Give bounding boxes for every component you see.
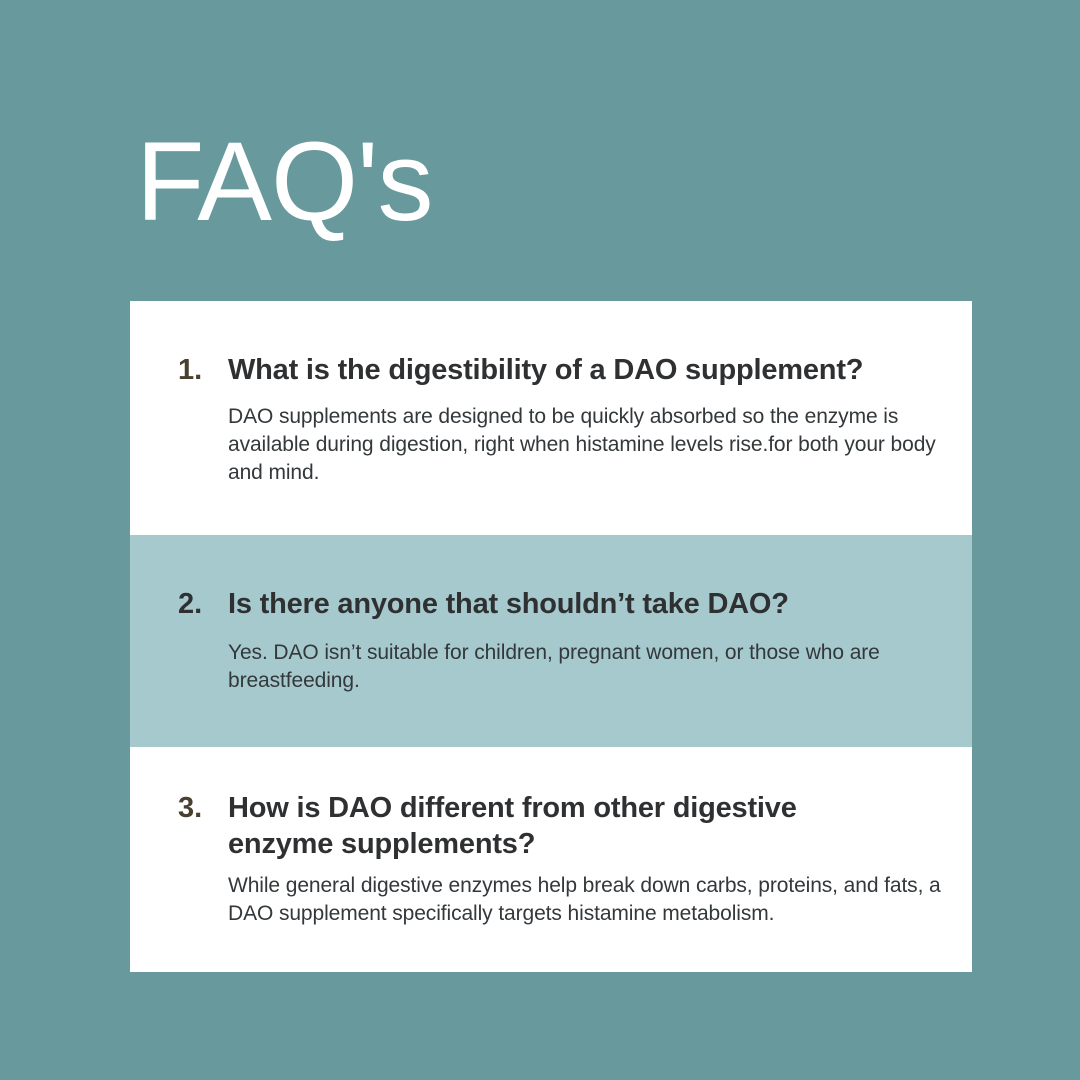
faq-slide: FAQ's 1. What is the digestibility of a … bbox=[0, 0, 1080, 1080]
faq-question-row-1: 1. What is the digestibility of a DAO su… bbox=[178, 353, 942, 388]
faq-number-3: 3. bbox=[178, 791, 228, 826]
faq-question-row-3: 3. How is DAO different from other diges… bbox=[178, 791, 942, 862]
faq-number-1: 1. bbox=[178, 353, 228, 388]
faq-number-2: 2. bbox=[178, 587, 228, 622]
faq-card: 1. What is the digestibility of a DAO su… bbox=[130, 301, 972, 972]
faq-item-1[interactable]: 1. What is the digestibility of a DAO su… bbox=[130, 301, 972, 535]
faq-answer-2: Yes. DAO isn’t suitable for children, pr… bbox=[228, 639, 942, 695]
faq-item-2[interactable]: 2. Is there anyone that shouldn’t take D… bbox=[130, 535, 972, 747]
page-title: FAQ's bbox=[136, 126, 432, 238]
faq-question-3: How is DAO different from other digestiv… bbox=[228, 791, 888, 862]
faq-question-2: Is there anyone that shouldn’t take DAO? bbox=[228, 587, 888, 622]
faq-item-3[interactable]: 3. How is DAO different from other diges… bbox=[130, 747, 972, 972]
faq-question-row-2: 2. Is there anyone that shouldn’t take D… bbox=[178, 587, 942, 622]
faq-answer-3: While general digestive enzymes help bre… bbox=[228, 872, 942, 928]
faq-question-1: What is the digestibility of a DAO suppl… bbox=[228, 353, 888, 388]
faq-answer-1: DAO supplements are designed to be quick… bbox=[228, 403, 942, 487]
